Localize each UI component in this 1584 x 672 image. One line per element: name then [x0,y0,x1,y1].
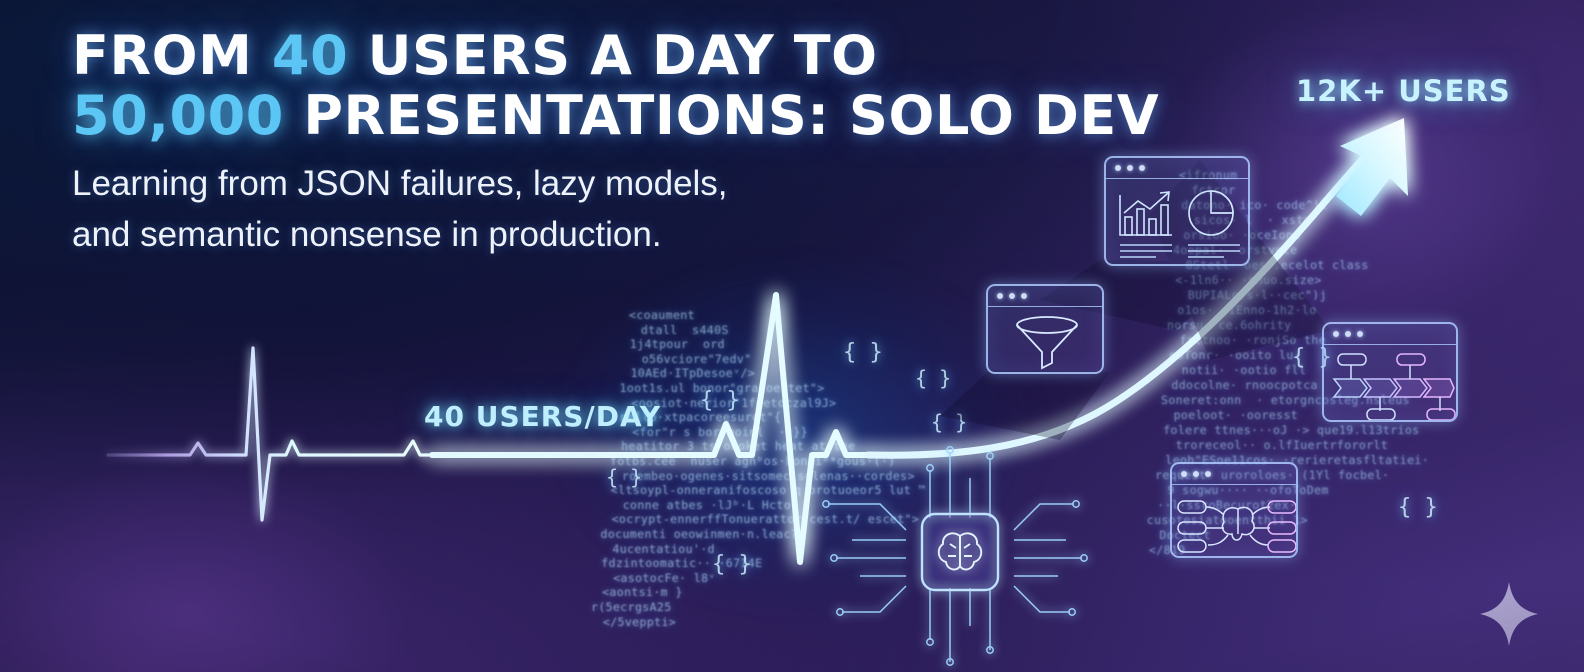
code-line: o1os· ·IEnno-1h2·lo [1177,303,1316,317]
window-dot-icon [1009,293,1015,299]
window-dot-icon [1127,165,1133,171]
headline-l2-suffix: PRESENTATIONS: SOLO DEV [284,84,1159,147]
code-brace: { } [1398,495,1438,520]
headline-l1-prefix: FROM [72,24,272,87]
code-brace: { } [712,552,752,577]
card-body [1324,345,1456,420]
code-line: 10AEd·ITpDesoeᵛ/> [631,366,756,380]
brain-glyph [939,533,982,569]
headline-line-2: 50,000 PRESENTATIONS: SOLO DEV [72,86,1232,146]
analytics-dashboard-card[interactable] [1104,156,1250,266]
code-line: ddocolne· rnoocpotca [1171,378,1317,392]
timeline-process-card[interactable] [1322,322,1458,422]
growth-arrow-head [1336,118,1408,216]
code-line: roembeo·ogenes·sitsomec·solenas··cordes> [622,469,915,483]
code-line: frltnoo· ·ronjSo the [1180,333,1326,347]
window-dot-icon [1205,471,1211,477]
code-line: <ocrypt-ennerffTonuerattor.cest.t/ escet… [612,512,920,526]
mind-map-brain-icon [1172,485,1298,558]
code-line: 1oot1s.ul bonor"gratoertet"> [620,381,825,395]
code-line: notii· ·ootio fll [1182,363,1307,377]
code-line: fotbs.cee nuser agnᵇos·bonaiᵇ*gous·(·) [610,454,896,468]
card-title-bar [1106,158,1248,179]
code-line: heatitor 3 ts onoket heat at the [621,439,855,453]
ecg-baseline-path [108,348,432,520]
code-line: <aontsi·m } [602,585,683,599]
code-line: conne atbes ·lJᵇ·L Hcto" [623,498,799,512]
code-brace: { } [700,388,740,413]
headline: FROM 40 USERS A DAY TO 50,000 PRESENTATI… [72,26,1232,146]
code-line: <-1ln6·· ·snuo.size> [1175,273,1321,287]
code-line: o56vciore"7edv" [642,352,752,366]
code-line: <oosiot·nerior"1fpetoczal9J> [631,396,836,410]
banner-canvas: <coaumentdtall s440S1j4tpour ordo56vcior… [0,0,1584,672]
pie-chart-icon [1189,191,1233,235]
stat-label-left: 40 USERS/DAY [424,400,661,433]
card-body [1172,485,1296,556]
subtitle-line-2: and semantic nonsense in production. [72,209,952,260]
center-glow-wash [480,200,1120,670]
subtitle-line-1: Learning from JSON failures, lazy models… [72,158,952,209]
code-line: eoTonr· ·ooito lu· [1169,348,1301,362]
window-dot-icon [1181,471,1187,477]
code-line: norsu· ce.6ohrity [1167,318,1292,332]
bottom-left-glow-wash [0,400,500,672]
card-title-bar [1172,464,1296,485]
funnel-card[interactable] [986,284,1104,374]
code-line: documenti oeowinmen·n.leac? [601,527,799,541]
code-brace: { } [915,366,951,390]
code-brace: { } [606,465,642,489]
mind-map-card[interactable] [1170,462,1298,558]
code-line: </5veppti> [603,615,676,629]
code-line: troreceol·· o.lfIuertrfororlt [1176,438,1388,452]
bar-chart-icon [1120,192,1172,235]
card-title-bar [1324,324,1456,345]
code-line: fdzintoomatic·· ·67I4E [601,556,762,570]
window-dot-icon [1333,331,1339,337]
code-line: <ltsoypl-onneranifoscoso q orotuoeor5 lu… [611,483,926,497]
code-line: r(5ecrgsA25 [591,600,672,614]
headline-l2-accent: 50,000 [72,84,284,147]
code-line: 1j4tpour ord [630,337,725,351]
code-line: BUPIALors·l··cec")j [1188,288,1327,302]
headline-l1-accent: 40 [272,24,348,87]
headline-l1-suffix: USERS A DAY TO [348,24,877,87]
window-dot-icon [1193,471,1199,477]
window-dot-icon [997,293,1003,299]
timeline-process-icon [1324,345,1458,422]
window-dot-icon [1021,293,1027,299]
code-brace: { } [931,410,967,434]
code-line: <coaument [629,308,695,322]
window-dot-icon [1345,331,1351,337]
code-line: <asotocFe· l8ᵛ [613,571,716,585]
text-lines [1120,245,1240,257]
headline-line-1: FROM 40 USERS A DAY TO [72,26,1232,86]
card-body [988,307,1102,372]
stat-label-right: 12K+ USERS [1296,74,1511,108]
chip-body [922,514,998,590]
window-dot-icon [1115,165,1121,171]
code-brace: { } [843,340,883,365]
funnel-icon [988,307,1104,374]
code-line: dtall s440S [641,323,729,337]
card-title-bar [988,286,1102,307]
code-line: 4ucentatiou'·d [612,542,715,556]
code-line: folere ttnes···oJ ·> que19.l13trios [1163,423,1419,437]
card-body [1106,179,1248,264]
window-dot-icon [1139,165,1145,171]
sparkle-star-icon [1478,580,1540,648]
subtitle: Learning from JSON failures, lazy models… [72,158,952,260]
code-line: poeloot· ·ooresst [1174,408,1299,422]
window-dot-icon [1357,331,1363,337]
